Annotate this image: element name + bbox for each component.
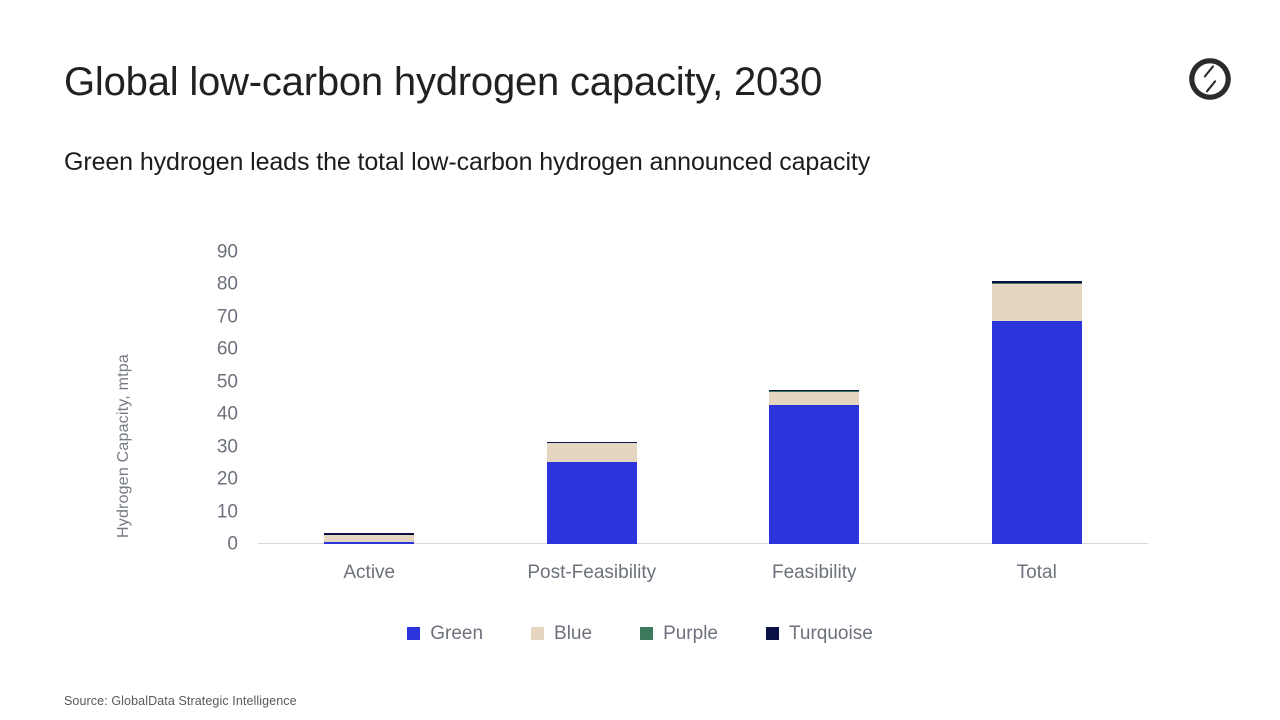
legend-swatch-blue-icon	[531, 627, 544, 640]
bar-group-post-feasibility[interactable]	[547, 252, 637, 544]
x-axis-tick-labels: ActivePost-FeasibilityFeasibilityTotal	[258, 562, 1148, 590]
bar-segment-turquoise[interactable]	[547, 442, 637, 444]
bar-segment-blue[interactable]	[547, 443, 637, 462]
legend-item-purple[interactable]: Purple	[640, 624, 718, 643]
bar-group-feasibility[interactable]	[769, 252, 859, 544]
y-axis-tick-10: 10	[170, 502, 238, 521]
bar-segment-blue[interactable]	[769, 392, 859, 405]
y-axis-tick-60: 60	[170, 340, 238, 359]
bar-segment-green[interactable]	[992, 321, 1082, 544]
plot-bars-area	[258, 252, 1148, 544]
legend-label-blue: Blue	[554, 624, 592, 643]
legend-item-green[interactable]: Green	[407, 624, 483, 643]
bar-segment-purple[interactable]	[992, 283, 1082, 284]
source-note: Source: GlobalData Strategic Intelligenc…	[64, 694, 297, 708]
y-axis-tick-labels: 9080706050403020100	[170, 242, 238, 554]
y-axis-tick-30: 30	[170, 437, 238, 456]
legend-swatch-green-icon	[407, 627, 420, 640]
legend-label-green: Green	[430, 624, 483, 643]
y-axis-tick-50: 50	[170, 372, 238, 391]
y-axis-title: Hydrogen Capacity, mtpa	[104, 326, 144, 566]
legend-swatch-turquoise-icon	[766, 627, 779, 640]
bar-group-active[interactable]	[324, 252, 414, 544]
legend-label-purple: Purple	[663, 624, 718, 643]
x-axis-label-post-feasibility: Post-Feasibility	[482, 562, 702, 585]
x-axis-label-total: Total	[927, 562, 1147, 585]
bar-segment-blue[interactable]	[324, 535, 414, 542]
y-axis-tick-0: 0	[170, 535, 238, 554]
bar-group-total[interactable]	[992, 252, 1082, 544]
y-axis-tick-70: 70	[170, 307, 238, 326]
x-axis-label-active: Active	[259, 562, 479, 585]
bar-segment-green[interactable]	[547, 462, 637, 544]
bar-segment-blue[interactable]	[992, 284, 1082, 321]
y-axis-tick-80: 80	[170, 275, 238, 294]
legend-label-turquoise: Turquoise	[789, 624, 873, 643]
legend-item-blue[interactable]: Blue	[531, 624, 592, 643]
bar-segment-turquoise[interactable]	[992, 281, 1082, 283]
bar-segment-green[interactable]	[769, 405, 859, 544]
legend-item-turquoise[interactable]: Turquoise	[766, 624, 873, 643]
y-axis-tick-40: 40	[170, 405, 238, 424]
bar-segment-turquoise[interactable]	[324, 533, 414, 534]
y-axis-tick-90: 90	[170, 243, 238, 262]
bar-segment-turquoise[interactable]	[769, 390, 859, 392]
legend-swatch-purple-icon	[640, 627, 653, 640]
bar-segment-green[interactable]	[324, 542, 414, 544]
y-axis-tick-20: 20	[170, 470, 238, 489]
x-axis-label-feasibility: Feasibility	[704, 562, 924, 585]
chart-container: Hydrogen Capacity, mtpa 9080706050403020…	[0, 0, 1280, 720]
chart-legend: GreenBluePurpleTurquoise	[0, 624, 1280, 643]
